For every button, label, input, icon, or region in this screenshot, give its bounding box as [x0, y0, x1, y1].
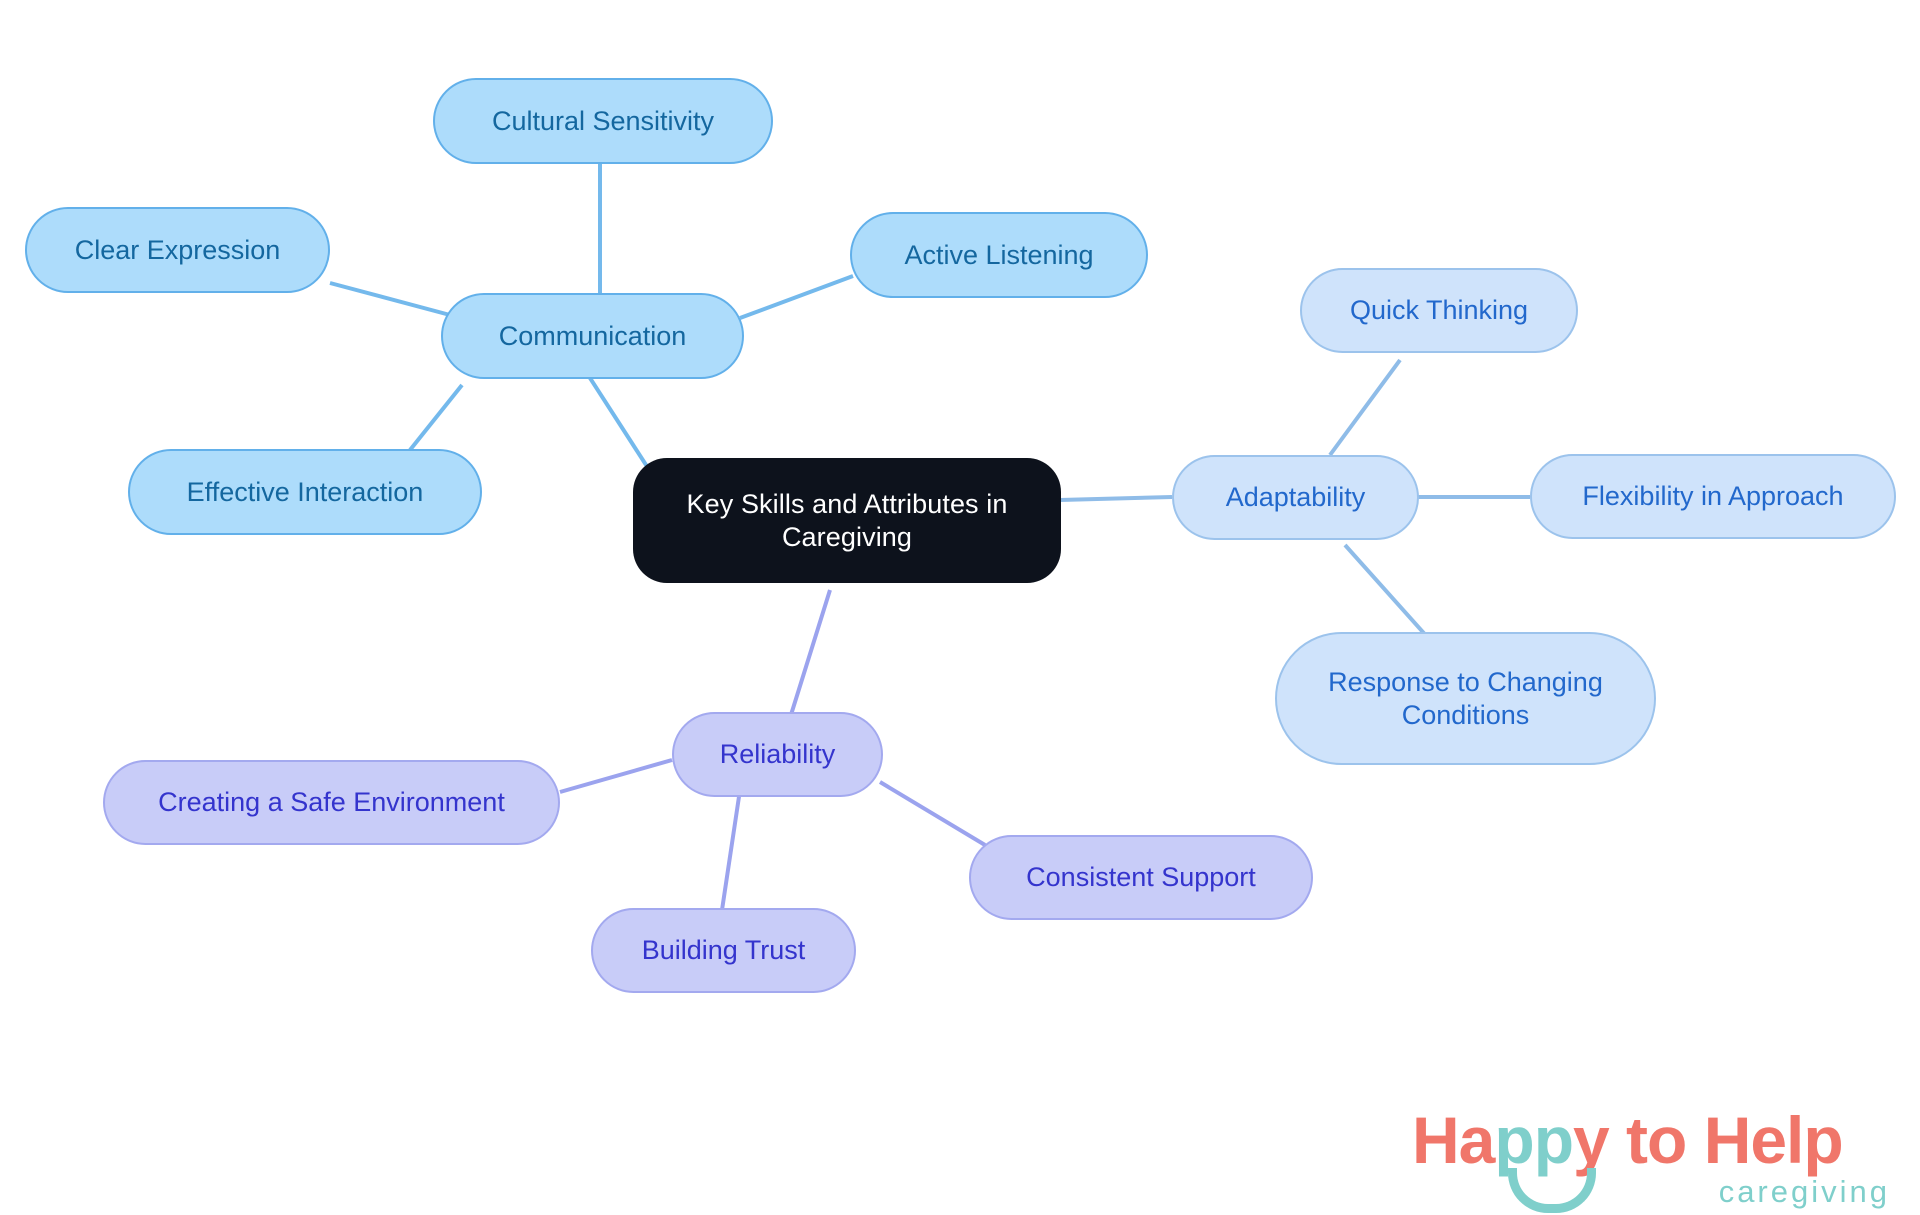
node-clear-expression[interactable]: Clear Expression [25, 207, 330, 293]
edge-reliability-consistent-support [880, 782, 985, 845]
logo-wordmark: Happy to Help [1412, 1102, 1843, 1178]
edge-layer [0, 0, 1920, 1215]
edge-reliability-building-trust [722, 790, 740, 910]
brand-logo: Happy to Help caregiving [1412, 1102, 1892, 1210]
node-root[interactable]: Key Skills and Attributes in Caregiving [633, 458, 1061, 583]
edge-communication-effective-interaction [410, 385, 462, 450]
node-reliability-label: Reliability [720, 738, 836, 771]
edge-root-communication [590, 378, 648, 468]
node-communication-label: Communication [499, 320, 687, 353]
logo-part-3: y to Help [1573, 1103, 1843, 1177]
node-response-to-changing-conditions-label: Response to Changing Conditions [1328, 666, 1603, 732]
node-effective-interaction[interactable]: Effective Interaction [128, 449, 482, 535]
smile-icon [1508, 1168, 1596, 1213]
edge-reliability-creating-safe-environment [560, 760, 672, 792]
node-cultural-sensitivity-label: Cultural Sensitivity [492, 105, 714, 138]
node-building-trust[interactable]: Building Trust [591, 908, 856, 993]
node-flexibility-in-approach[interactable]: Flexibility in Approach [1530, 454, 1896, 539]
node-clear-expression-label: Clear Expression [75, 234, 281, 267]
node-consistent-support[interactable]: Consistent Support [969, 835, 1313, 920]
node-flexibility-in-approach-label: Flexibility in Approach [1582, 480, 1843, 513]
node-consistent-support-label: Consistent Support [1026, 861, 1256, 894]
node-effective-interaction-label: Effective Interaction [187, 476, 424, 509]
node-active-listening-label: Active Listening [904, 239, 1093, 272]
node-creating-a-safe-environment-label: Creating a Safe Environment [158, 786, 505, 819]
edge-root-adaptability [1060, 497, 1172, 500]
node-cultural-sensitivity[interactable]: Cultural Sensitivity [433, 78, 773, 164]
logo-part-2: pp [1494, 1103, 1573, 1177]
logo-tagline: caregiving [1719, 1174, 1890, 1210]
node-quick-thinking[interactable]: Quick Thinking [1300, 268, 1578, 353]
mind-map-canvas: Key Skills and Attributes in Caregiving … [0, 0, 1920, 1215]
edge-root-reliability [790, 590, 830, 718]
node-active-listening[interactable]: Active Listening [850, 212, 1148, 298]
node-creating-a-safe-environment[interactable]: Creating a Safe Environment [103, 760, 560, 845]
node-root-label: Key Skills and Attributes in Caregiving [633, 488, 1061, 554]
node-adaptability-label: Adaptability [1226, 481, 1366, 514]
node-quick-thinking-label: Quick Thinking [1350, 294, 1528, 327]
node-adaptability[interactable]: Adaptability [1172, 455, 1419, 540]
node-communication[interactable]: Communication [441, 293, 744, 379]
edge-adaptability-quick-thinking [1330, 360, 1400, 455]
edge-communication-active-listening [740, 276, 853, 318]
logo-part-1: Ha [1412, 1103, 1494, 1177]
node-reliability[interactable]: Reliability [672, 712, 883, 797]
edge-communication-clear-expression [330, 283, 450, 315]
node-building-trust-label: Building Trust [642, 934, 806, 967]
edge-adaptability-response [1345, 545, 1430, 640]
node-response-to-changing-conditions[interactable]: Response to Changing Conditions [1275, 632, 1656, 765]
